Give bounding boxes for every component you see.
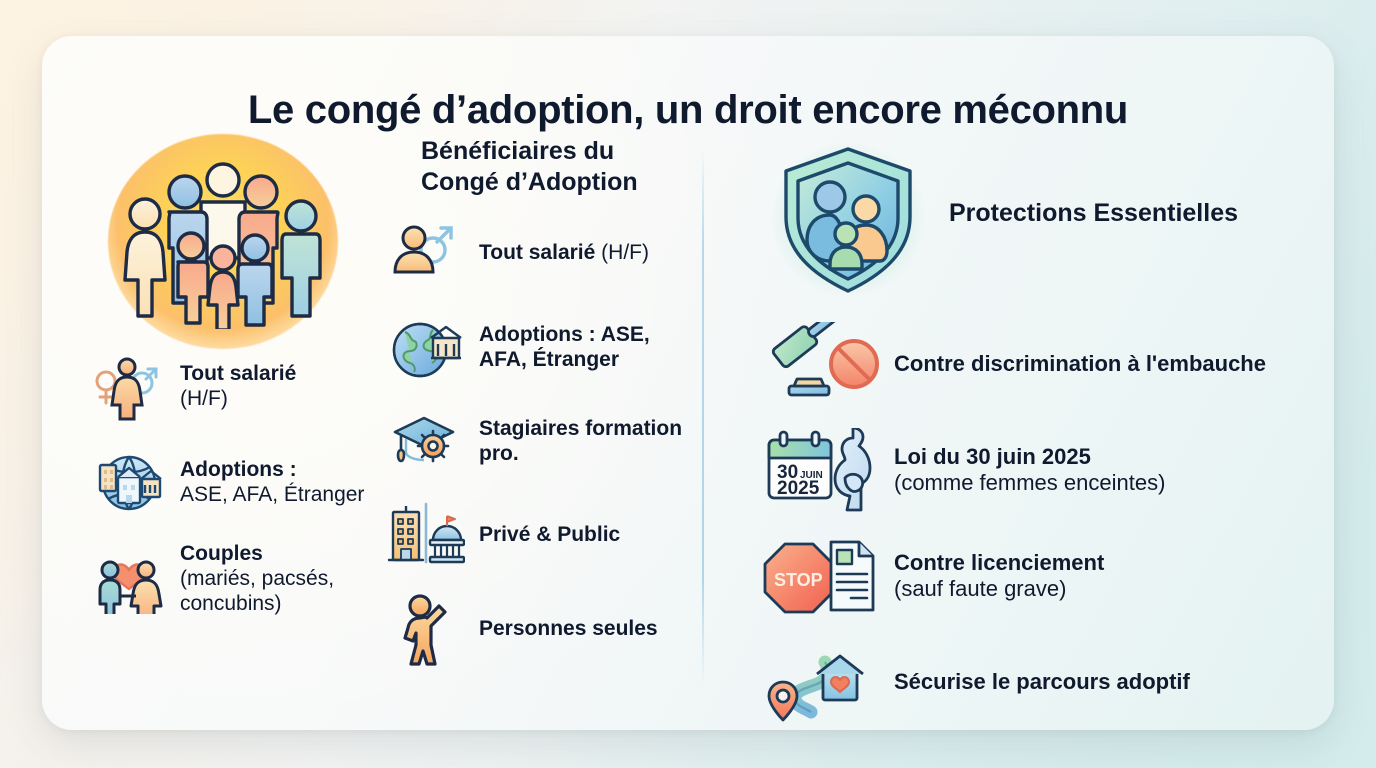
list-item-subtitle: (mariés, pacsés, concubins) xyxy=(180,567,334,615)
list-item: STOP Contre licenciement (sauf faute gra… xyxy=(760,532,1320,620)
office-government-buildings-icon xyxy=(387,496,465,574)
infographic-card: Le congé d’adoption, un droit encore méc… xyxy=(42,36,1334,730)
list-item-title: Adoptions : ASE, AFA, Étranger xyxy=(479,323,650,371)
list-item-text: Contre licenciement (sauf faute grave) xyxy=(894,550,1104,603)
list-item-subtitle: (H/F) xyxy=(180,387,228,410)
list-item: Privé & Public xyxy=(387,496,697,574)
single-person-raised-arm-icon xyxy=(387,590,465,668)
right-column: Protections Essentielles xyxy=(760,136,1320,730)
list-item-subtitle: ASE, AFA, Étranger xyxy=(180,483,364,506)
list-item-title: Personnes seules xyxy=(479,617,658,640)
list-item-title: Couples xyxy=(180,542,263,565)
list-item-title: Tout salarié xyxy=(180,362,296,385)
list-item-title: Sécurise le parcours adoptif xyxy=(894,669,1190,694)
middle-column-heading: Bénéficiaires du Congé d’Adoption xyxy=(421,136,697,198)
gavel-prohibition-icon xyxy=(760,320,880,408)
column-divider xyxy=(702,148,704,686)
list-item-subtitle: (comme femmes enceintes) xyxy=(894,470,1165,495)
list-item-text: Tout salarié (H/F) xyxy=(479,240,649,265)
list-item-text: Sécurise le parcours adoptif xyxy=(894,669,1190,695)
person-male-symbol-icon xyxy=(387,214,465,292)
calendar-year: 2025 xyxy=(777,478,820,499)
right-column-header: Protections Essentielles xyxy=(760,136,1320,306)
calendar-pregnant-icon: 30 JUIN 2025 xyxy=(760,426,880,514)
list-item-text: Stagiaires formation pro. xyxy=(479,416,697,466)
list-item-text: Adoptions : ASE, AFA, Étranger xyxy=(479,322,697,372)
list-item: Tout salarié (H/F) xyxy=(387,214,697,292)
right-protection-list: Contre discrimination à l'embauche xyxy=(760,320,1320,726)
list-item-text: Loi du 30 juin 2025 (comme femmes encein… xyxy=(894,444,1165,497)
graduation-cap-gear-icon xyxy=(387,402,465,480)
left-benefit-list: Tout salarié (H/F) xyxy=(92,349,392,617)
list-item: Adoptions : ASE, AFA, Étranger xyxy=(92,445,392,519)
middle-column: Bénéficiaires du Congé d’Adoption To xyxy=(387,136,697,684)
infographic-stage: Le congé d’adoption, un droit encore méc… xyxy=(0,0,1376,768)
list-item-text: Personnes seules xyxy=(479,616,658,641)
list-item-title: Contre licenciement xyxy=(894,550,1104,575)
gender-symbols-person-icon xyxy=(92,349,166,423)
list-item: Adoptions : ASE, AFA, Étranger xyxy=(387,308,697,386)
list-item-text: Privé & Public xyxy=(479,522,620,547)
stop-label: STOP xyxy=(774,570,823,590)
list-item-text: Couples (mariés, pacsés, concubins) xyxy=(180,541,392,617)
list-item: Stagiaires formation pro. xyxy=(387,402,697,480)
list-item-title: Privé & Public xyxy=(479,523,620,546)
left-column: Tout salarié (H/F) xyxy=(92,126,392,639)
globe-institutions-icon xyxy=(92,445,166,519)
right-column-heading: Protections Essentielles xyxy=(949,198,1238,229)
family-group-circle-icon xyxy=(108,134,338,349)
list-item-text: Tout salarié (H/F) xyxy=(180,361,296,411)
list-item: Sécurise le parcours adoptif xyxy=(760,638,1320,726)
path-home-heart-icon xyxy=(760,638,880,726)
couple-heart-icon xyxy=(92,542,166,616)
list-item-title: Loi du 30 juin 2025 xyxy=(894,444,1091,469)
list-item-subtitle: (H/F) xyxy=(601,241,649,264)
list-item-subtitle: (sauf faute grave) xyxy=(894,576,1066,601)
list-item-title: Stagiaires formation pro. xyxy=(479,417,682,465)
list-item-title: Adoptions : xyxy=(180,458,297,481)
list-item-text: Contre discrimination à l'embauche xyxy=(894,351,1266,377)
list-item-title: Tout salarié xyxy=(479,241,595,264)
stop-sign-document-icon: STOP xyxy=(760,532,880,620)
middle-benefit-list: Tout salarié (H/F) xyxy=(387,214,697,668)
family-shield-icon xyxy=(760,136,935,306)
list-item: Contre discrimination à l'embauche xyxy=(760,320,1320,408)
list-item-text: Adoptions : ASE, AFA, Étranger xyxy=(180,457,364,507)
list-item: 30 JUIN 2025 Loi du 30 juin 2025 (comme … xyxy=(760,426,1320,514)
list-item: Tout salarié (H/F) xyxy=(92,349,392,423)
list-item: Couples (mariés, pacsés, concubins) xyxy=(92,541,392,617)
list-item: Personnes seules xyxy=(387,590,697,668)
earth-globe-institution-icon xyxy=(387,308,465,386)
list-item-title: Contre discrimination à l'embauche xyxy=(894,351,1266,376)
